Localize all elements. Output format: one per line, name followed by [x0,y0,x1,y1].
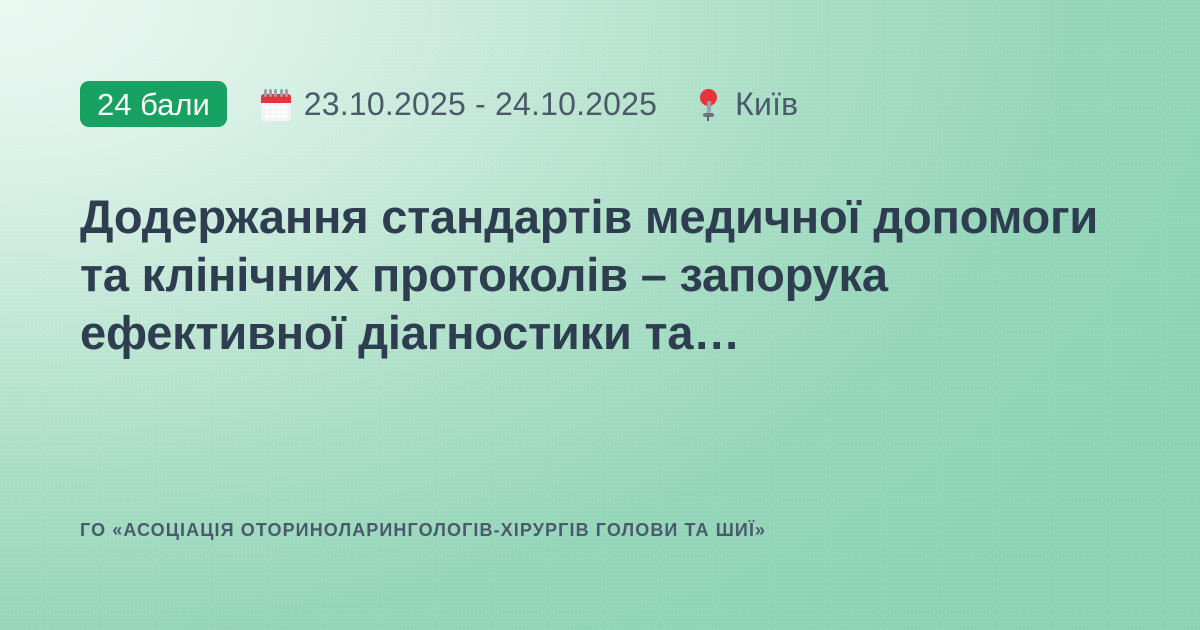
date-range-item: 23.10.2025 - 24.10.2025 [261,88,657,120]
event-title: Додержання стандартів медичної допомоги … [80,130,1128,361]
meta-row: 24 бали 23.10.2025 - 24.10.2025 [80,78,1128,130]
location-text: Київ [735,88,798,120]
card-content: 24 бали 23.10.2025 - 24.10.2025 [80,78,1128,630]
event-card: 24 бали 23.10.2025 - 24.10.2025 [0,0,1200,630]
map-pin-icon [697,88,719,122]
calendar-icon [261,89,291,121]
points-badge: 24 бали [80,81,227,127]
location-item: Київ [697,87,798,121]
organiser-name: ГО «Асоціація оториноларингологів-хірург… [80,520,1128,542]
date-range-text: 23.10.2025 - 24.10.2025 [304,88,657,120]
